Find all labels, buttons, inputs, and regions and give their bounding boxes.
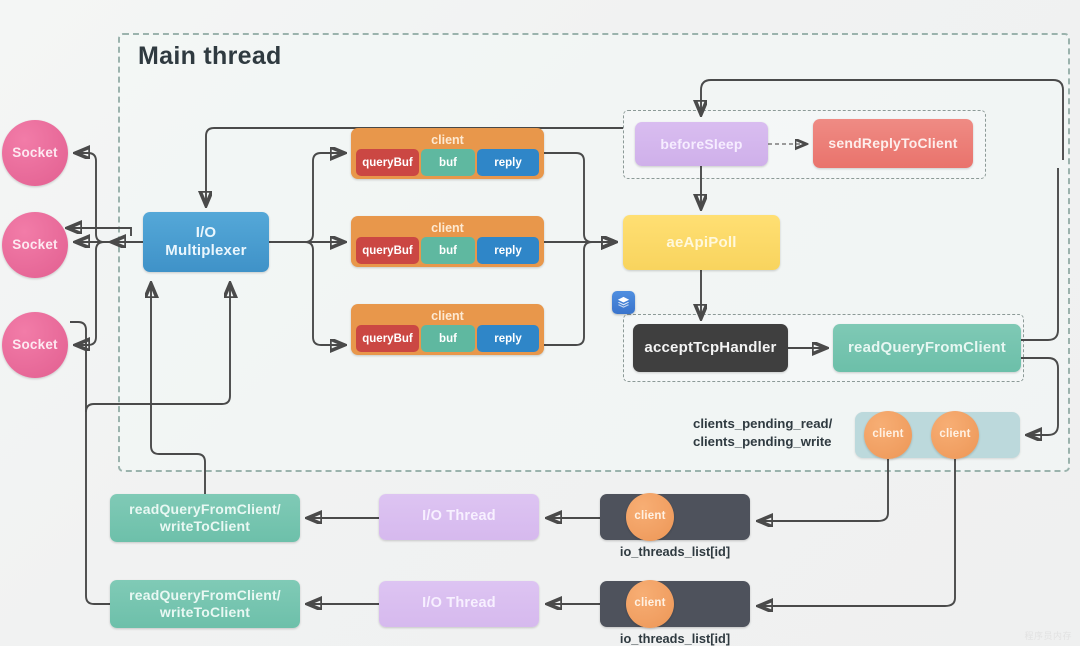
client-struct-2[interactable]: client queryBuf buf reply <box>351 216 544 267</box>
send-reply-to-client-node[interactable]: sendReplyToClient <box>813 119 973 168</box>
send-reply-to-client-label: sendReplyToClient <box>828 135 957 152</box>
client-querybuf-field: queryBuf <box>356 325 419 352</box>
client-querybuf-field: queryBuf <box>356 237 419 264</box>
io-threads-list-client-2[interactable]: client <box>626 580 674 628</box>
io-thread-node-2[interactable]: I/O Thread <box>379 581 539 627</box>
io-thread-label: I/O Thread <box>422 508 496 525</box>
client-title: client <box>354 130 541 149</box>
socket-label: Socket <box>12 237 57 253</box>
pending-client-1[interactable]: client <box>864 411 912 459</box>
pending-client-2[interactable]: client <box>931 411 979 459</box>
client-buf-field: buf <box>421 325 475 352</box>
client-fields: queryBuf buf reply <box>354 237 541 264</box>
client-buf-field: buf <box>421 149 475 176</box>
io-threads-list-label-1: io_threads_list[id] <box>585 544 765 559</box>
client-buf-field: buf <box>421 237 475 264</box>
client-reply-field: reply <box>477 237 539 264</box>
io-thread-node-1[interactable]: I/O Thread <box>379 494 539 540</box>
io-handler-line2: writeToClient <box>129 604 281 621</box>
before-sleep-node[interactable]: beforeSleep <box>635 122 768 166</box>
io-thread-label: I/O Thread <box>422 595 496 612</box>
socket-label: Socket <box>12 145 57 161</box>
socket-node-3[interactable]: Socket <box>2 312 68 378</box>
client-querybuf-field: queryBuf <box>356 149 419 176</box>
io-handler-node-1[interactable]: readQueryFromClient/ writeToClient <box>110 494 300 542</box>
socket-node-1[interactable]: Socket <box>2 120 68 186</box>
diagram-canvas: Main thread <box>0 0 1080 646</box>
clients-pending-read-label: clients_pending_read/ <box>693 415 858 433</box>
accept-tcp-handler-node[interactable]: acceptTcpHandler <box>633 324 788 372</box>
clients-pending-write-label: clients_pending_write <box>693 433 858 451</box>
client-struct-1[interactable]: client queryBuf buf reply <box>351 128 544 179</box>
clients-pending-label: clients_pending_read/ clients_pending_wr… <box>693 415 858 451</box>
layers-app-icon <box>612 291 635 314</box>
io-list-client-label: client <box>634 510 665 524</box>
read-query-from-client-node[interactable]: readQueryFromClient <box>833 324 1021 372</box>
main-thread-title: Main thread <box>138 42 282 71</box>
ae-api-poll-label: aeApiPoll <box>666 234 736 252</box>
watermark-text: 程序员内存 <box>1024 629 1072 642</box>
pending-client-label: client <box>939 428 970 442</box>
io-handler-line2: writeToClient <box>129 518 281 535</box>
client-fields: queryBuf buf reply <box>354 325 541 352</box>
io-threads-list-label-2: io_threads_list[id] <box>585 631 765 646</box>
io-multiplexer-line2: Multiplexer <box>165 242 246 260</box>
client-title: client <box>354 306 541 325</box>
io-handler-node-2[interactable]: readQueryFromClient/ writeToClient <box>110 580 300 628</box>
before-sleep-label: beforeSleep <box>660 136 742 153</box>
io-handler-line1: readQueryFromClient/ <box>129 501 281 518</box>
io-multiplexer-line1: I/O <box>165 224 246 242</box>
io-list-client-label: client <box>634 597 665 611</box>
io-handler-line1: readQueryFromClient/ <box>129 587 281 604</box>
accept-tcp-handler-label: acceptTcpHandler <box>644 339 776 357</box>
layers-icon <box>616 295 631 310</box>
io-threads-list-box-2[interactable] <box>600 581 750 627</box>
socket-label: Socket <box>12 337 57 353</box>
client-reply-field: reply <box>477 325 539 352</box>
client-reply-field: reply <box>477 149 539 176</box>
read-query-from-client-label: readQueryFromClient <box>848 339 1006 357</box>
io-multiplexer-node[interactable]: I/O Multiplexer <box>143 212 269 272</box>
client-struct-3[interactable]: client queryBuf buf reply <box>351 304 544 355</box>
client-fields: queryBuf buf reply <box>354 149 541 176</box>
io-threads-list-client-1[interactable]: client <box>626 493 674 541</box>
pending-client-label: client <box>872 428 903 442</box>
ae-api-poll-node[interactable]: aeApiPoll <box>623 215 780 270</box>
client-title: client <box>354 218 541 237</box>
io-threads-list-box-1[interactable] <box>600 494 750 540</box>
socket-node-2[interactable]: Socket <box>2 212 68 278</box>
